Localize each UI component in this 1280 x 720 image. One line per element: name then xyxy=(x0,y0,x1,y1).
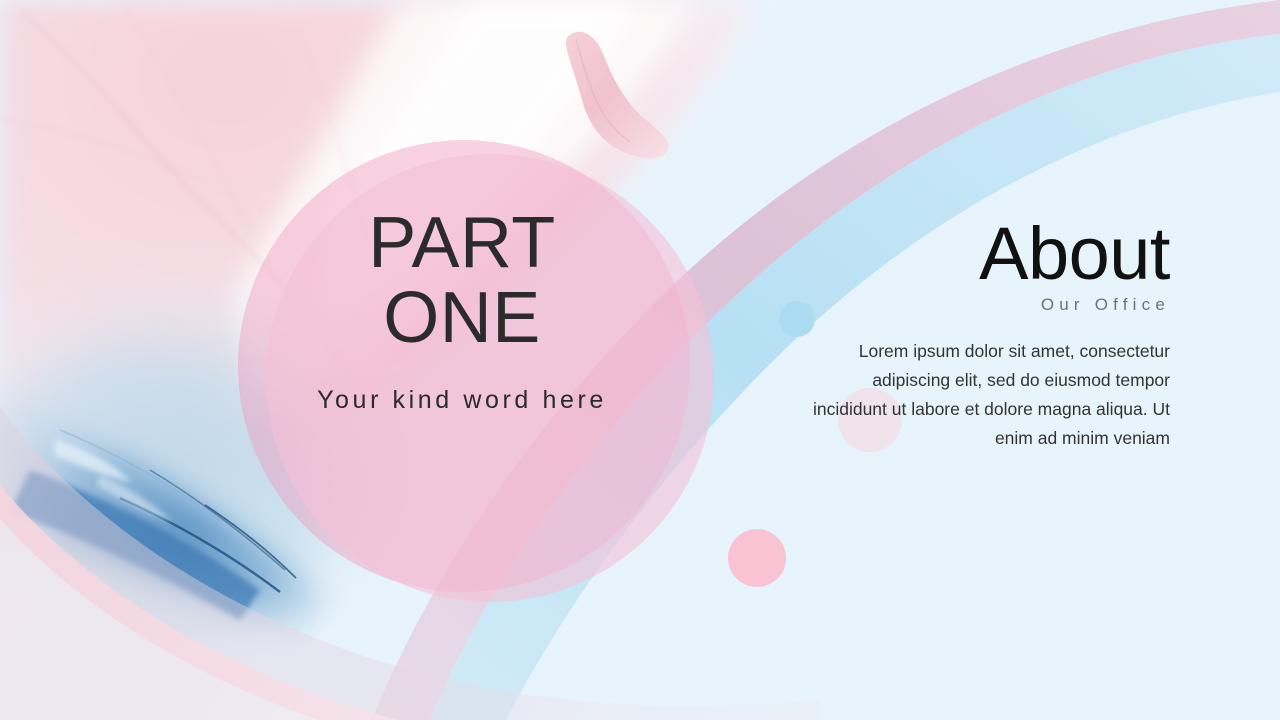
slide-canvas: PART ONE Your kind word here About Our O… xyxy=(0,0,1280,720)
about-title: About xyxy=(960,218,1170,289)
part-title: PART ONE xyxy=(262,206,662,356)
part-subtitle: Your kind word here xyxy=(262,386,662,415)
about-text-block: About Our Office Lorem ipsum dolor sit a… xyxy=(808,218,1170,453)
about-body-text: Lorem ipsum dolor sit amet, consectetur … xyxy=(808,337,1170,453)
part-text-block: PART ONE Your kind word here xyxy=(262,206,662,415)
about-subtitle: Our Office xyxy=(808,295,1170,315)
pink-dot-icon xyxy=(728,529,786,587)
